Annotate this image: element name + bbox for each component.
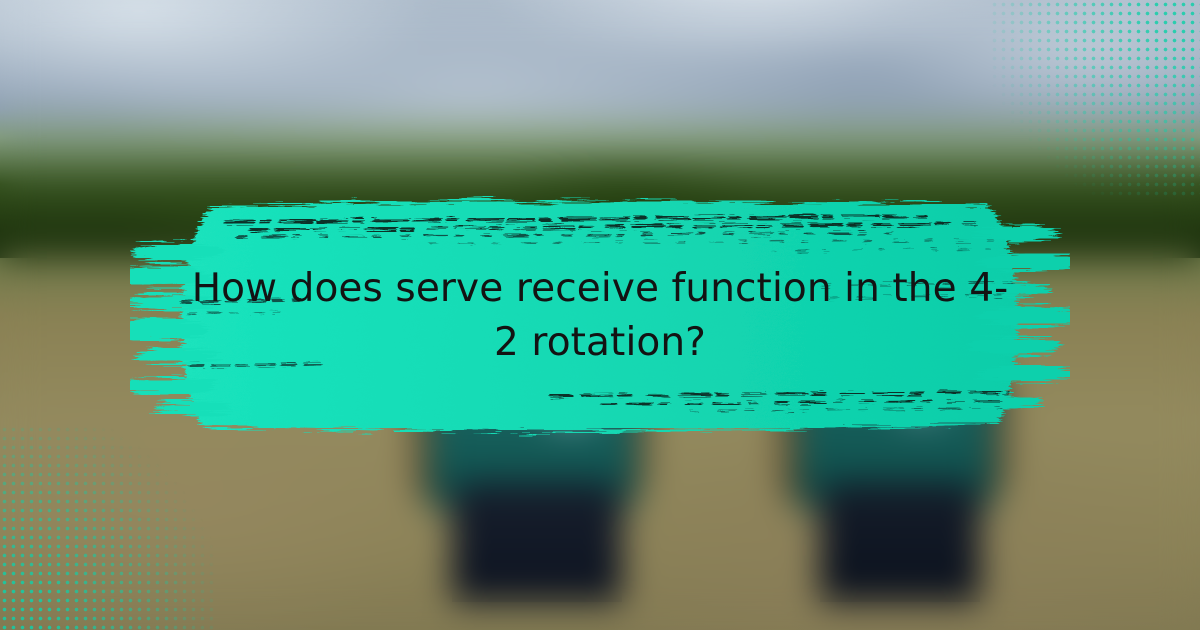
page-title: How does serve receive function in the 4… [180, 262, 1020, 370]
share-card: How does serve receive function in the 4… [0, 0, 1200, 630]
